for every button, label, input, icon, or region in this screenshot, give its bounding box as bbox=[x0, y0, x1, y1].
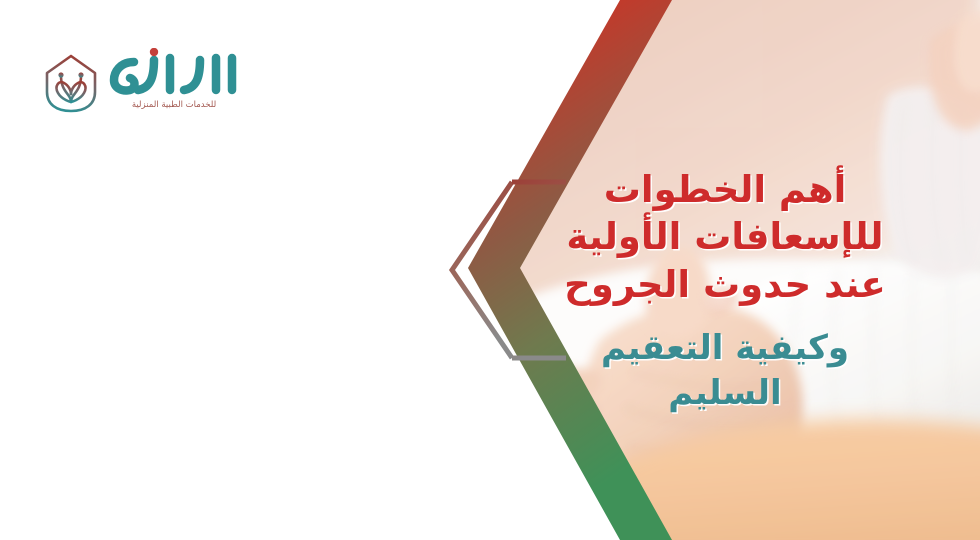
arabic-wordmark-alrazi bbox=[108, 48, 240, 104]
outline-chevron bbox=[452, 182, 512, 358]
logo-wordmark-group: للخدمات الطبية المنزلية bbox=[108, 48, 240, 110]
headline-line-2: للإسعافات الأولية bbox=[510, 213, 940, 260]
headline-line-3: عند حدوث الجروح bbox=[510, 261, 940, 308]
headline: أهم الخطوات للإسعافات الأولية عند حدوث ا… bbox=[510, 166, 940, 308]
subheadline: وكيفية التعقيم السليم bbox=[510, 326, 940, 416]
brand-logo[interactable]: للخدمات الطبية المنزلية bbox=[42, 46, 240, 114]
subheadline-line-1: وكيفية التعقيم bbox=[510, 326, 940, 371]
headline-block: أهم الخطوات للإسعافات الأولية عند حدوث ا… bbox=[510, 166, 940, 416]
wordmark-red-dot bbox=[150, 48, 158, 56]
headline-line-1: أهم الخطوات bbox=[510, 166, 940, 213]
logo-tagline: للخدمات الطبية المنزلية bbox=[108, 100, 240, 110]
first-aid-promo-banner: للخدمات الطبية المنزلية أهم الخطوات للإس… bbox=[0, 0, 980, 540]
subheadline-line-2: السليم bbox=[510, 371, 940, 416]
house-stethoscope-heart-icon bbox=[42, 52, 100, 114]
